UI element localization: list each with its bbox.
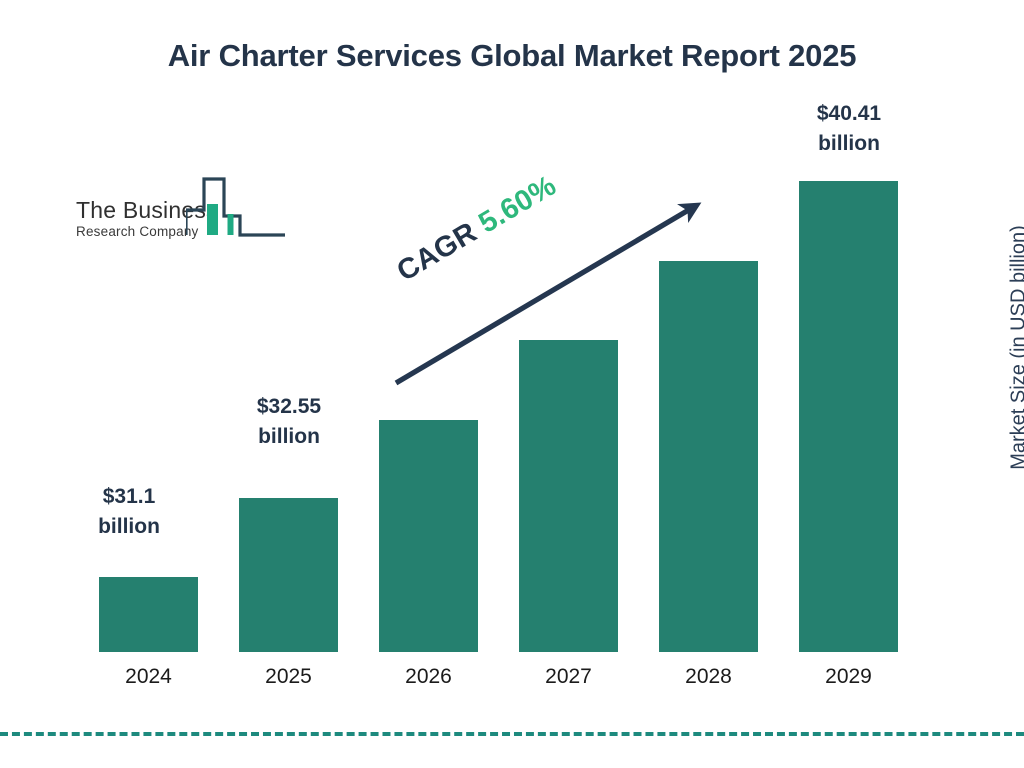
bar-2026 xyxy=(379,420,478,652)
x-tick-2029: 2029 xyxy=(799,665,898,689)
x-tick-2028: 2028 xyxy=(659,665,758,689)
value-label-2029: $40.41 billion xyxy=(789,99,909,159)
cagr-word: CAGR xyxy=(392,216,483,288)
bar-2029 xyxy=(799,181,898,652)
cagr-value: 5.60% xyxy=(473,170,561,240)
y-axis-title: Market Size (in USD billion) xyxy=(1008,198,1024,498)
bar-2028 xyxy=(659,261,758,652)
x-tick-2024: 2024 xyxy=(99,665,198,689)
x-tick-2025: 2025 xyxy=(239,665,338,689)
x-tick-2026: 2026 xyxy=(379,665,478,689)
bar-2024 xyxy=(99,577,198,652)
x-tick-2027: 2027 xyxy=(519,665,618,689)
value-label-2025: $32.55 billion xyxy=(232,392,346,452)
bar-2025 xyxy=(239,498,338,652)
chart-page: Air Charter Services Global Market Repor… xyxy=(0,0,1024,768)
cagr-annotation-label: CAGR 5.60% xyxy=(392,170,563,289)
footer-divider xyxy=(0,732,1024,736)
bar-2027 xyxy=(519,340,618,652)
bar-chart-plot-area: $31.1 billion $32.55 billion $40.41 bill… xyxy=(0,0,1024,768)
value-label-2024: $31.1 billion xyxy=(69,482,189,542)
